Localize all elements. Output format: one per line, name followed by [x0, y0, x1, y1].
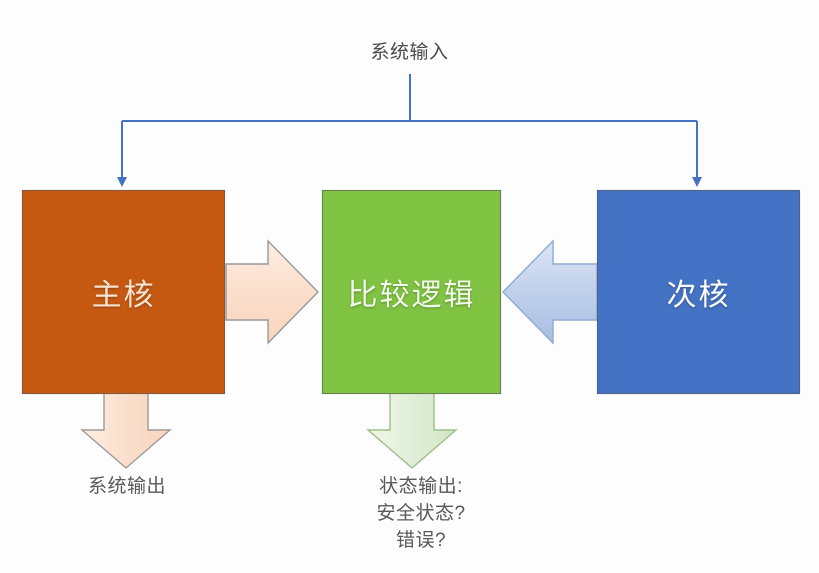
status-output-label: 状态输出: 安全状态? 错误? [330, 473, 512, 554]
node-secondary-core[interactable]: 次核 [597, 190, 800, 394]
node-main-core[interactable]: 主核 [22, 190, 225, 394]
node-compare-logic[interactable]: 比较逻辑 [322, 190, 501, 394]
arrow-compare-to-status-output [368, 393, 456, 468]
node-secondary-core-label: 次核 [667, 270, 731, 314]
arrow-main-to-system-output [82, 393, 170, 468]
input-split-connector [122, 74, 697, 182]
status-output-line-1: 状态输出: [330, 473, 512, 500]
node-main-core-label: 主核 [92, 270, 156, 314]
arrow-main-to-compare [226, 241, 318, 343]
status-output-line-2: 安全状态? [330, 500, 512, 527]
status-output-line-3: 错误? [330, 527, 512, 554]
diagram-canvas: 系统输入 主核 比较逻辑 次核 系统输出 状态输出: 安全状态? 错误? [0, 0, 819, 573]
arrow-secondary-to-compare [503, 241, 597, 343]
system-output-label: 系统输出 [32, 474, 222, 500]
system-input-label: 系统输入 [0, 40, 819, 66]
node-compare-logic-label: 比较逻辑 [348, 270, 476, 314]
